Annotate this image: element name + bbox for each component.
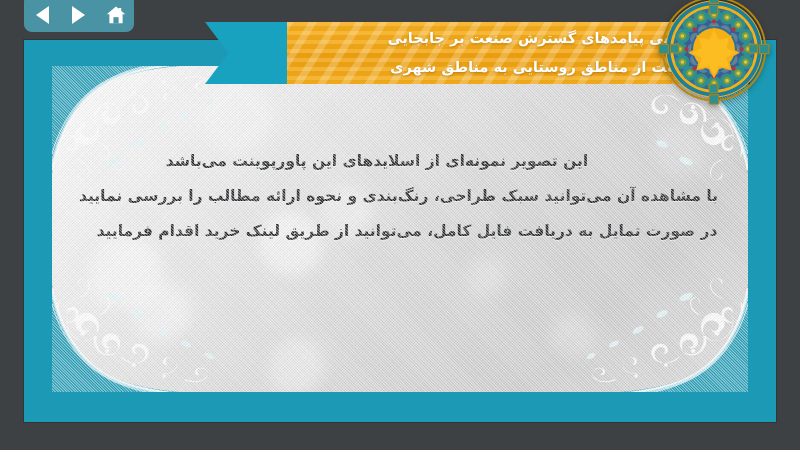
bokeh-blob: [130, 282, 190, 342]
triangle-left-icon: [36, 6, 49, 24]
bokeh-blob: [202, 82, 272, 152]
next-slide-button[interactable]: [66, 3, 92, 27]
bokeh-blob: [268, 338, 324, 392]
slide-content-area: این تصویر نمونه‌ای از اسلایدهای این پاور…: [52, 66, 748, 392]
slide-title: بررسی پیامدهای گسترش صنعت بر جابجایی جمع…: [287, 22, 717, 84]
previous-slide-button[interactable]: [29, 3, 55, 27]
arabesque-corner-ornament-bottom-left: [52, 272, 242, 392]
persian-rosette-medallion: [657, 0, 771, 106]
triangle-right-icon: [72, 6, 85, 24]
bokeh-blob: [466, 256, 506, 296]
bokeh-blob: [550, 314, 596, 360]
arabesque-corner-ornament-bottom-right: [558, 272, 748, 392]
slide-navigation-bar: [24, 0, 134, 32]
title-line-2: جمعیت از مناطق روستایی به مناطق شهری: [287, 54, 701, 83]
body-line-3: در صورت تمایل به دریافت فایل کامل، می‌تو…: [92, 214, 722, 249]
slide-body-text: این تصویر نمونه‌ای از اسلایدهای این پاور…: [92, 144, 722, 249]
home-icon: [105, 5, 127, 25]
title-line-1: بررسی پیامدهای گسترش صنعت بر جابجایی: [287, 25, 701, 54]
body-line-1: این تصویر نمونه‌ای از اسلایدهای این پاور…: [92, 144, 722, 179]
slide-viewer-backdrop: این تصویر نمونه‌ای از اسلایدهای این پاور…: [0, 0, 800, 450]
home-button[interactable]: [103, 3, 129, 27]
body-line-2: با مشاهده آن می‌توانید سبک طراحی، رنگ‌بن…: [92, 179, 722, 214]
